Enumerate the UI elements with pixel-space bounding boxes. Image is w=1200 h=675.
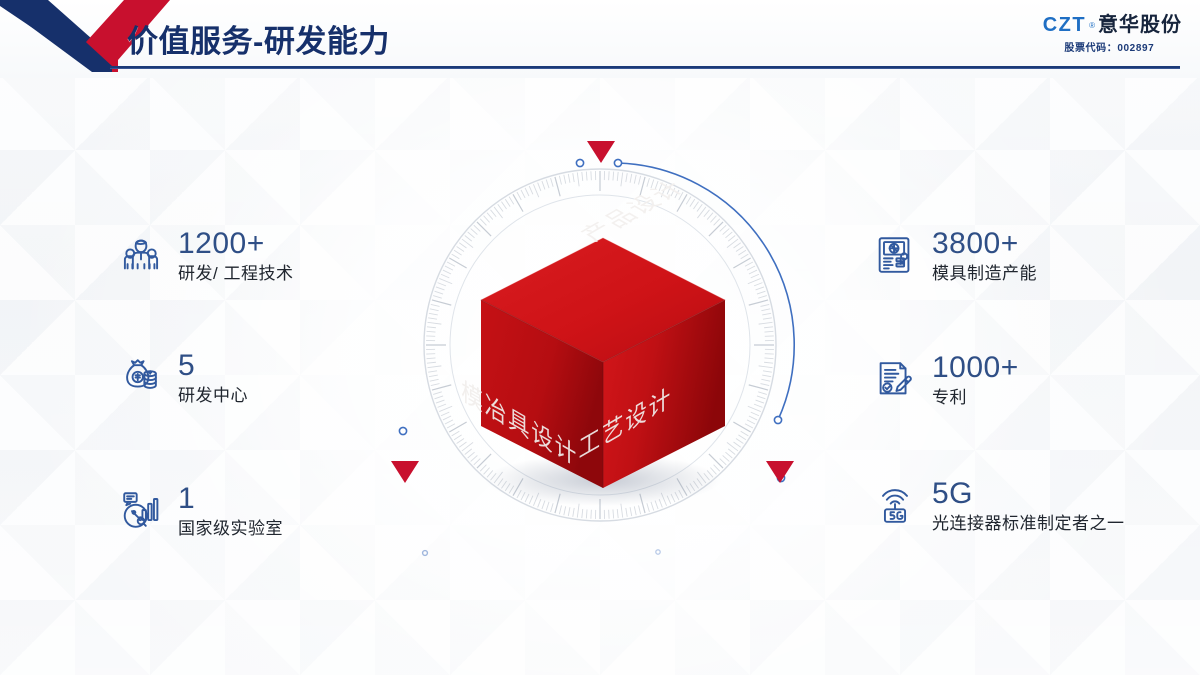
stat-text-block: 5G 光连接器标准制定者之一 xyxy=(932,478,1125,532)
stat-value: 1200+ xyxy=(178,228,293,260)
node-dot-bottom xyxy=(656,550,660,554)
node-dot-top-right xyxy=(614,159,621,166)
node-dot-arc-end xyxy=(774,416,781,423)
node-dot-top-left xyxy=(576,159,583,166)
stat-label: 模具制造产能 xyxy=(932,265,1037,282)
stat-label: 国家级实验室 xyxy=(178,520,283,537)
triangle-marker-right-icon xyxy=(766,461,794,483)
brand-name-cn: 意华股份 xyxy=(1098,8,1182,37)
isometric-cube xyxy=(481,238,725,488)
slide-header: 价值服务-研发能力 CZT ® 意华股份 股票代码：002897 xyxy=(0,0,1200,78)
signal-5g-icon xyxy=(872,482,918,528)
data-analysis-icon xyxy=(118,487,164,533)
stat-text-block: 1 国家级实验室 xyxy=(178,483,283,537)
brand-logo-row: CZT ® 意华股份 xyxy=(1043,8,1182,37)
triangle-marker-left-icon xyxy=(391,461,419,483)
stat-value: 5 xyxy=(178,350,248,382)
node-dot-left-lower xyxy=(399,427,406,434)
brand-logo: CZT ® 意华股份 股票代码：002897 xyxy=(1043,8,1182,54)
stat-item-patents[interactable]: 1000+ 专利 xyxy=(872,352,1019,406)
title-divider xyxy=(110,66,1180,69)
stat-text-block: 1200+ 研发/ 工程技术 xyxy=(178,228,293,282)
team-people-icon xyxy=(118,232,164,278)
money-bag-icon xyxy=(118,354,164,400)
stat-label: 研发中心 xyxy=(178,387,248,404)
stat-value: 5G xyxy=(932,478,1125,510)
stat-value: 1 xyxy=(178,483,283,515)
stat-label: 研发/ 工程技术 xyxy=(178,265,293,282)
center-graphic: 产品设计 模冶具设计 工艺设计 xyxy=(375,120,825,570)
stat-item-national-lab[interactable]: 1 国家级实验室 xyxy=(118,483,283,537)
brand-mark: CZT xyxy=(1043,14,1086,37)
cube-label-top: 产品设计 xyxy=(575,177,693,245)
triangle-marker-top-icon xyxy=(587,141,615,163)
stat-text-block: 5 研发中心 xyxy=(178,350,248,404)
mold-blueprint-icon xyxy=(872,232,918,278)
stat-item-rd-centers[interactable]: 5 研发中心 xyxy=(118,350,248,404)
registered-trademark-icon: ® xyxy=(1089,21,1095,30)
stock-code: 股票代码：002897 xyxy=(1043,39,1182,54)
patent-document-icon xyxy=(872,356,918,402)
stat-item-mold-capacity[interactable]: 3800+ 模具制造产能 xyxy=(872,228,1037,282)
page-title: 价值服务-研发能力 xyxy=(127,16,390,61)
stat-text-block: 3800+ 模具制造产能 xyxy=(932,228,1037,282)
stat-label: 专利 xyxy=(932,389,1019,406)
dial-and-cube-graphic: 产品设计 模冶具设计 工艺设计 xyxy=(375,120,825,570)
stat-item-rd-engineering[interactable]: 1200+ 研发/ 工程技术 xyxy=(118,228,293,282)
slide-canvas: 价值服务-研发能力 CZT ® 意华股份 股票代码：002897 xyxy=(0,0,1200,675)
node-dot-bottom-left xyxy=(423,551,428,556)
stat-item-5g-standard[interactable]: 5G 光连接器标准制定者之一 xyxy=(872,478,1125,532)
stat-text-block: 1000+ 专利 xyxy=(932,352,1019,406)
stat-value: 3800+ xyxy=(932,228,1037,260)
stat-label: 光连接器标准制定者之一 xyxy=(932,515,1125,532)
stat-value: 1000+ xyxy=(932,352,1019,384)
